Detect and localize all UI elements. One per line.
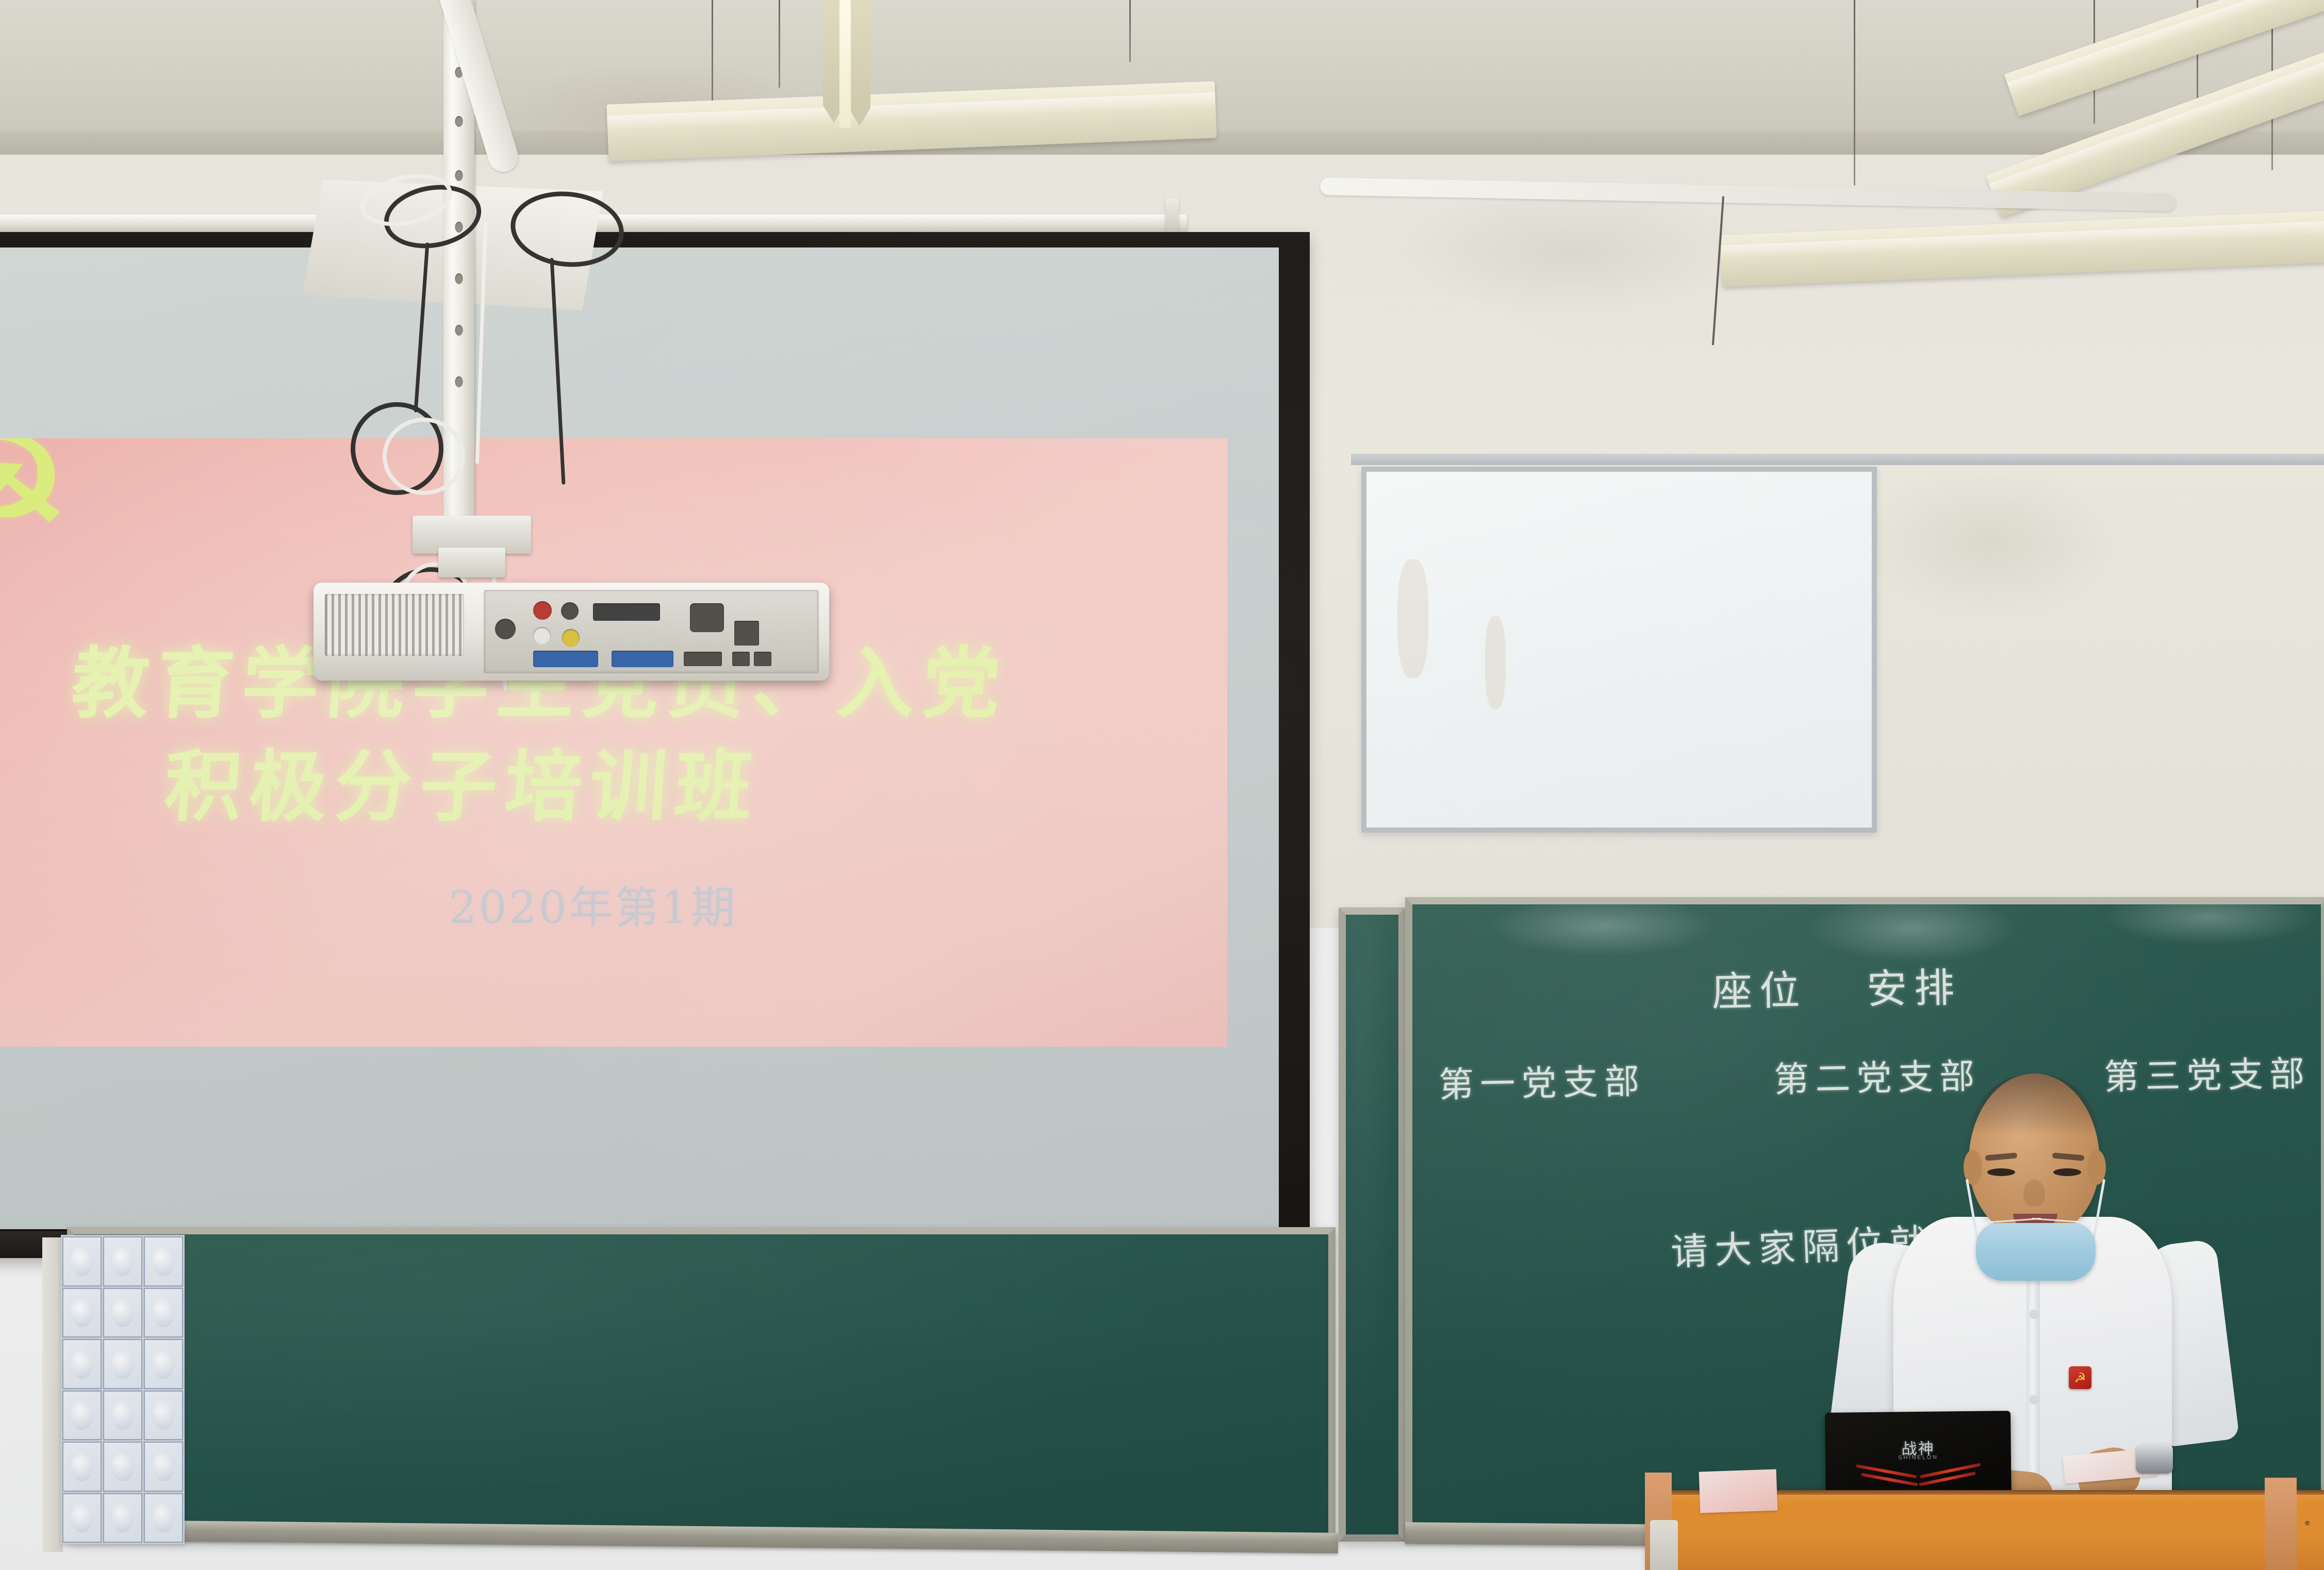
laptop-brand-en: SHINELON (1898, 1454, 1938, 1461)
wristwatch-icon (2136, 1444, 2173, 1474)
lamp-v-wing (849, 0, 870, 126)
chalk-heading-left: 座位 (1711, 958, 1807, 1017)
face-mask-icon (1976, 1223, 2096, 1281)
shirt-placket (2026, 1258, 2040, 1500)
nose (2023, 1180, 2045, 1207)
eye-left (1987, 1168, 2015, 1176)
chalkboard-left[interactable] (67, 1227, 1336, 1542)
light-hanging-wire (1129, 0, 1131, 62)
fluorescent-tube (839, 0, 851, 128)
projection-screen-assembly: ☭ 教育学院学生党员、入党 积极分子培训班 2020年第1期 (0, 232, 1310, 1258)
classroom-scene: ☭ 教育学院学生党员、入党 积极分子培训班 2020年第1期 (0, 0, 2324, 1570)
podium-paper (1699, 1469, 1778, 1513)
projector-ceiling-clamp (438, 548, 505, 577)
whiteboard-top-rail (1351, 454, 2324, 465)
chalk-group-1: 第一党支部 (1438, 1053, 1646, 1108)
light-hanging-wire (1854, 0, 1855, 186)
chalk-heading-right: 安排 (1866, 955, 1962, 1015)
podium-latch (1650, 1520, 1678, 1570)
screen-surface: ☭ 教育学院学生党员、入党 积极分子培训班 2020年第1期 (0, 247, 1279, 1229)
party-emblem-pin-icon: ☭ (2069, 1366, 2091, 1389)
shirt-button (2030, 1395, 2038, 1403)
slide-title-line2: 积极分子培训班 (161, 724, 764, 836)
projector-vent (325, 594, 464, 656)
glass-block-frame (42, 1237, 63, 1552)
whiteboard[interactable] (1361, 467, 1877, 833)
projector-cable-loop (383, 418, 465, 495)
light-hanging-wire (779, 0, 780, 88)
glass-block-panel-icon (61, 1235, 185, 1544)
ceiling-projector-icon (314, 583, 829, 681)
hammer-and-sickle-icon: ☭ (0, 438, 73, 562)
eye-right (2053, 1168, 2081, 1176)
projector-port-panel (484, 590, 819, 673)
podium-side-right (2265, 1478, 2297, 1570)
shirt-button (2030, 1310, 2038, 1318)
projected-slide: ☭ 教育学院学生党员、入党 积极分子培训班 2020年第1期 (0, 438, 1227, 1047)
chalkboard-middle[interactable] (1339, 907, 1406, 1542)
slide-subtitle: 2020年第1期 (449, 871, 737, 936)
screen-mount-bracket (1165, 198, 1179, 233)
